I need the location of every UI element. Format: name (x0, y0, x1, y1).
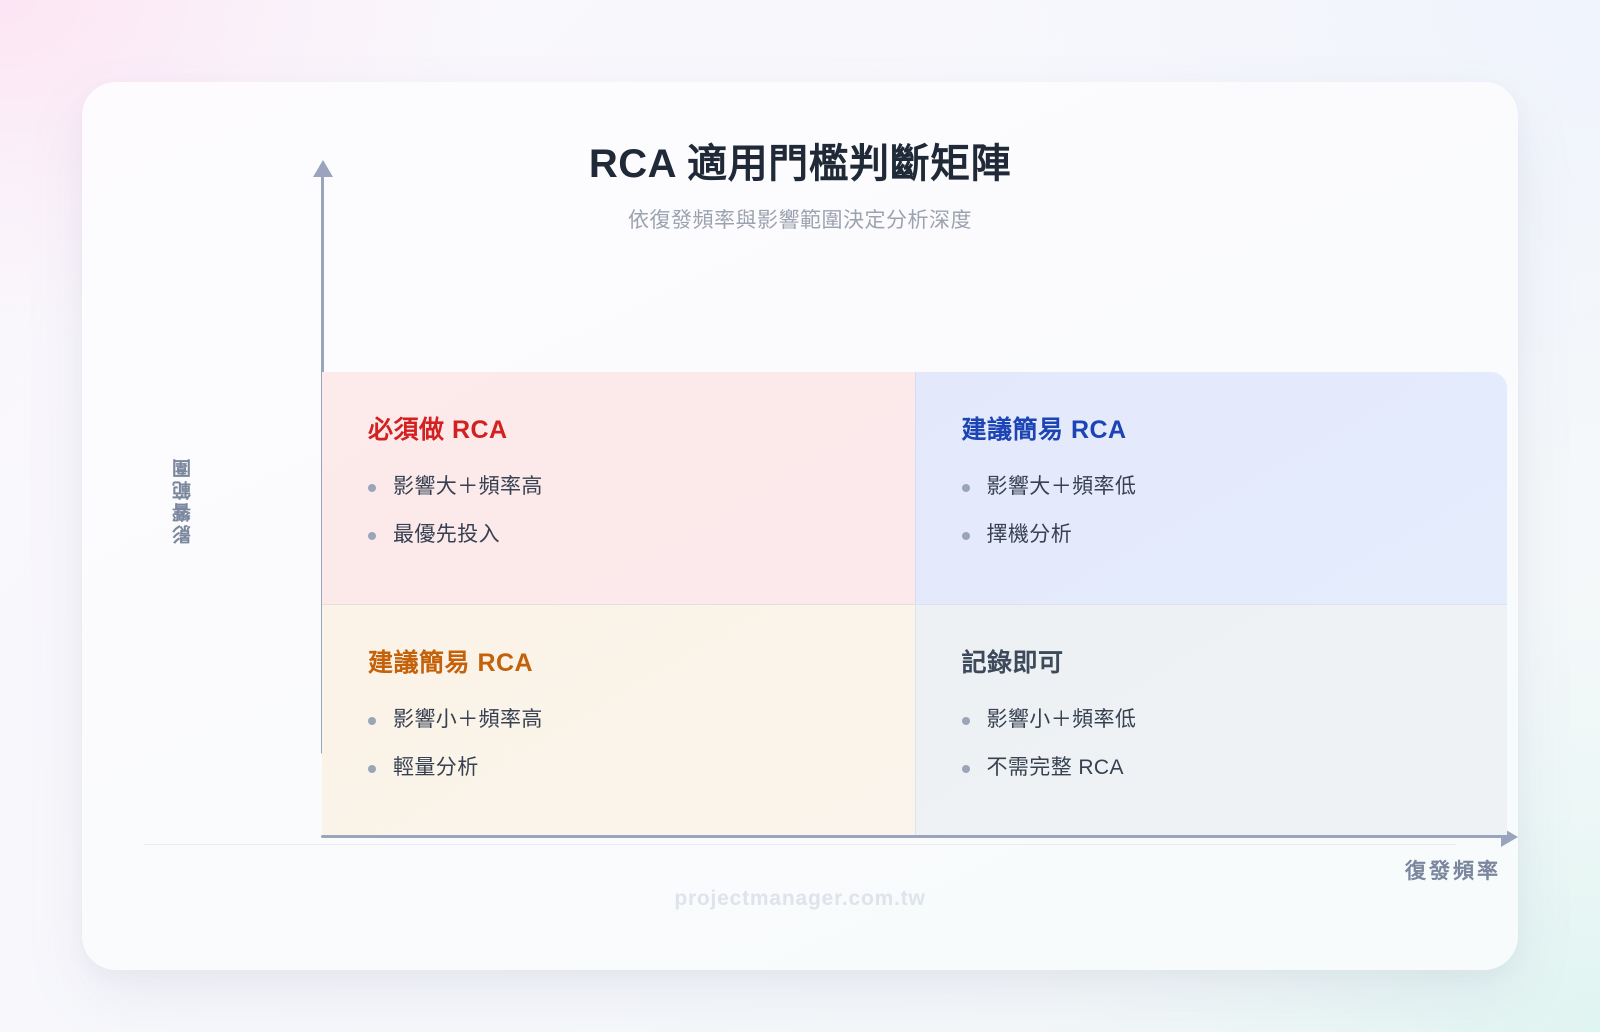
quadrant-grid: 必須做 RCA 影響大＋頻率高 最優先投入 建議簡易 RCA 影響大＋頻率低 擇… (322, 372, 1507, 835)
list-item: 擇機分析 (962, 520, 1468, 550)
list-item: 最優先投入 (368, 520, 875, 550)
quadrant-title: 必須做 RCA (368, 410, 875, 446)
x-axis-label: 復發頻率 (1247, 855, 1501, 885)
quadrant-bullet-list: 影響小＋頻率高 輕量分析 (368, 705, 875, 784)
quadrant-title: 建議簡易 RCA (962, 410, 1468, 446)
page-subtitle: 依復發頻率與影響範圍決定分析深度 (82, 204, 1518, 234)
list-item: 影響小＋頻率低 (962, 705, 1468, 735)
quadrant-low-impact-low-freq[interactable]: 記錄即可 影響小＋頻率低 不需完整 RCA (915, 604, 1508, 836)
card-header: RCA 適用門檻判斷矩陣 依復發頻率與影響範圍決定分析深度 (82, 140, 1518, 234)
quadrant-title: 記錄即可 (962, 643, 1468, 679)
quadrant-title: 建議簡易 RCA (368, 643, 875, 679)
quadrant-low-impact-high-freq[interactable]: 建議簡易 RCA 影響小＋頻率高 輕量分析 (322, 604, 915, 836)
footer-divider (144, 844, 1456, 845)
matrix-card: RCA 適用門檻判斷矩陣 依復發頻率與影響範圍決定分析深度 影響範圍 復發頻率 … (82, 82, 1518, 970)
list-item: 不需完整 RCA (962, 753, 1468, 783)
list-item: 影響大＋頻率高 (368, 472, 875, 502)
x-axis-line (321, 835, 1505, 838)
list-item: 影響小＋頻率高 (368, 705, 875, 735)
y-axis-arrow-icon (313, 160, 333, 177)
quadrant-bullet-list: 影響大＋頻率高 最優先投入 (368, 472, 875, 551)
list-item: 輕量分析 (368, 753, 875, 783)
footer-site-label: projectmanager.com.tw (82, 887, 1518, 911)
list-item: 影響大＋頻率低 (962, 472, 1468, 502)
y-axis-label: 影響範圍 (170, 456, 197, 544)
quadrant-high-impact-low-freq[interactable]: 建議簡易 RCA 影響大＋頻率低 擇機分析 (915, 372, 1508, 604)
page-title: RCA 適用門檻判斷矩陣 (82, 140, 1518, 188)
quadrant-high-impact-high-freq[interactable]: 必須做 RCA 影響大＋頻率高 最優先投入 (322, 372, 915, 604)
quadrant-matrix: 影響範圍 復發頻率 必須做 RCA 影響大＋頻率高 最優先投入 建議簡易 RCA… (237, 260, 1507, 760)
quadrant-bullet-list: 影響大＋頻率低 擇機分析 (962, 472, 1468, 551)
quadrant-bullet-list: 影響小＋頻率低 不需完整 RCA (962, 705, 1468, 784)
